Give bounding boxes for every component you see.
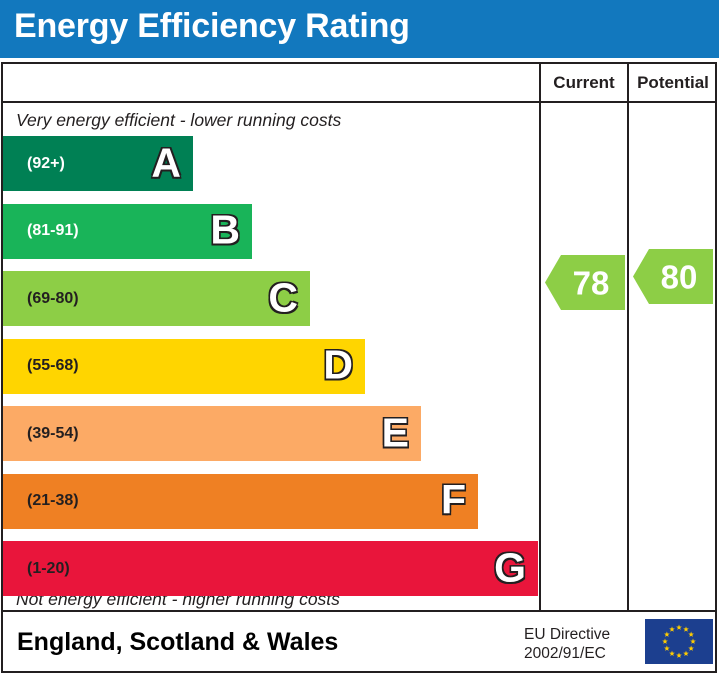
band-range-label: (81-91) [27,222,79,240]
column-divider-current [539,62,541,612]
eu-directive-line1: EU Directive [524,625,636,644]
page-title: Energy Efficiency Rating [14,7,410,46]
column-header-current: Current [541,73,627,93]
region-label: England, Scotland & Wales [17,628,338,657]
rating-value: 80 [633,260,713,293]
band-letter-label: F [441,480,466,521]
footer-bar: England, Scotland & Wales EU Directive 2… [1,612,717,673]
rating-band-f: (21-38)F [3,474,478,529]
rating-band-g: (1-20)G [3,541,538,596]
energy-efficiency-rating-chart: Energy Efficiency Rating Current Potenti… [0,0,719,675]
band-range-label: (69-80) [27,290,79,308]
eu-directive-line2: 2002/91/EC [524,644,636,663]
band-letter-label: C [268,277,298,318]
band-range-label: (21-38) [27,492,79,510]
eu-directive-text: EU Directive 2002/91/EC [524,625,636,664]
rating-marker-current: 78 [545,255,625,310]
rating-band-c: (69-80)C [3,271,310,326]
caption-top: Very energy efficient - lower running co… [16,110,341,131]
band-letter-label: A [151,142,181,183]
band-range-label: (92+) [27,155,65,173]
band-letter-label: B [210,210,240,251]
chart-title-bar: Energy Efficiency Rating [0,0,719,58]
rating-band-d: (55-68)D [3,339,365,394]
header-divider [1,101,717,103]
rating-value: 78 [545,266,625,299]
band-letter-label: D [323,345,353,386]
column-header-potential: Potential [629,73,717,93]
rating-marker-potential: 80 [633,249,713,304]
column-divider-potential [627,62,629,612]
rating-band-b: (81-91)B [3,204,252,259]
band-letter-label: E [382,412,409,453]
eu-flag-icon [645,619,713,664]
rating-band-e: (39-54)E [3,406,421,461]
band-range-label: (39-54) [27,425,79,443]
band-letter-label: G [494,547,526,588]
band-range-label: (55-68) [27,357,79,375]
rating-band-a: (92+)A [3,136,193,191]
band-range-label: (1-20) [27,560,70,578]
